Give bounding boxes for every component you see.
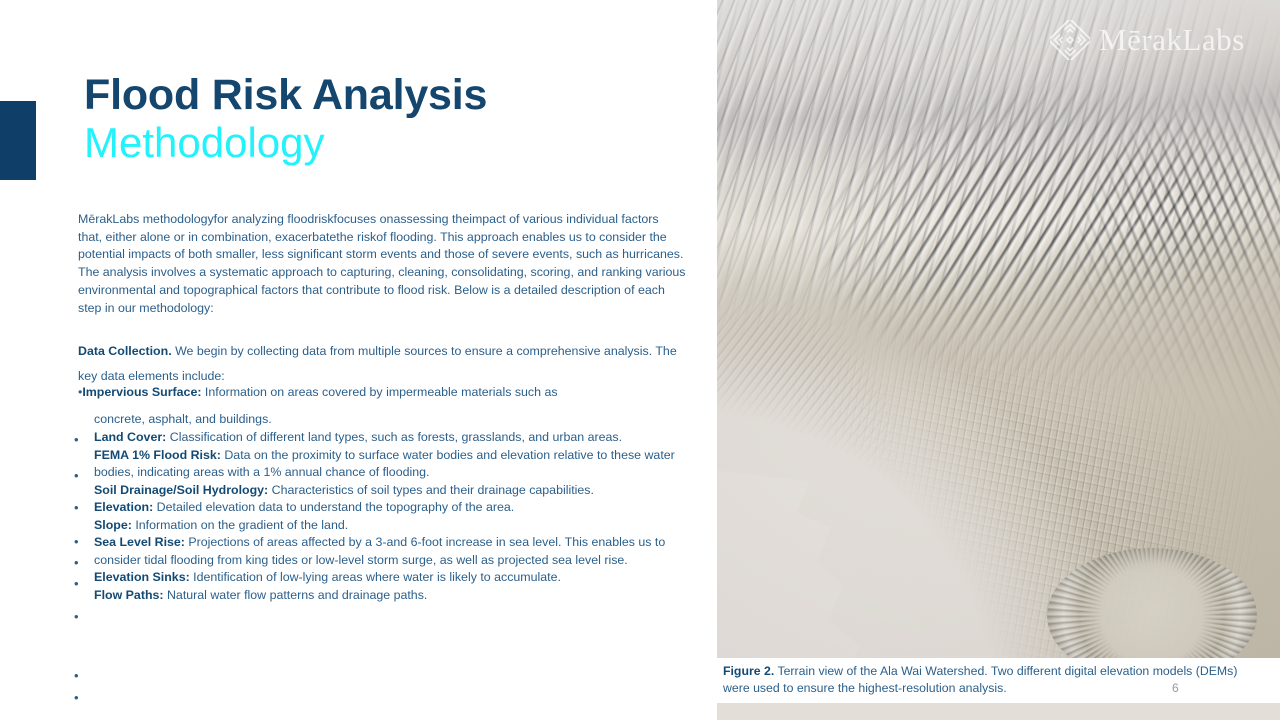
- list-item-term: Impervious Surface:: [82, 385, 201, 399]
- list-item-term: Soil Drainage/Soil Hydrology:: [94, 483, 268, 497]
- list-item-term: Elevation Sinks:: [94, 570, 190, 584]
- caption-band: Figure 2. Terrain view of the Ala Wai Wa…: [717, 658, 1280, 703]
- title-main: Flood Risk Analysis: [84, 72, 684, 118]
- list-item: FEMA 1% Flood Risk: Data on the proximit…: [94, 447, 684, 482]
- list-item: Land Cover: Classification of different …: [94, 429, 684, 447]
- list-item-text: Identification of low-lying areas where …: [190, 570, 561, 584]
- bullet-marker-icon: •: [74, 433, 79, 446]
- list-item-term: Elevation:: [94, 500, 153, 514]
- list-item-impervious-surface: •Impervious Surface: Information on area…: [78, 384, 698, 402]
- bullet-marker-icon: •: [74, 501, 79, 514]
- terrain-hillshade-image: MērakLabs: [717, 0, 1280, 658]
- bullet-marker-icon: •: [74, 691, 79, 704]
- list-item-text: Natural water flow patterns and drainage…: [164, 588, 428, 602]
- accent-block: [0, 101, 36, 180]
- list-item: Slope: Information on the gradient of th…: [94, 517, 684, 535]
- title-subtitle: Methodology: [84, 119, 684, 166]
- list-item-text: Detailed elevation data to understand th…: [153, 500, 514, 514]
- list-item-term: Land Cover:: [94, 430, 166, 444]
- bullet-marker-icon: •: [74, 469, 79, 482]
- list-item: Flow Paths: Natural water flow patterns …: [94, 587, 684, 605]
- figure-caption-text: Terrain view of the Ala Wai Watershed. T…: [723, 664, 1237, 695]
- list-item: Elevation Sinks: Identification of low-l…: [94, 569, 684, 587]
- list-item-term: Flow Paths:: [94, 588, 164, 602]
- list-item-text: Information on the gradient of the land.: [132, 518, 348, 532]
- bullet-marker-icon: •: [74, 535, 79, 548]
- page-title: Flood Risk Analysis Methodology: [84, 72, 684, 166]
- bottom-strip: [717, 703, 1280, 720]
- list-item: Elevation: Detailed elevation data to un…: [94, 499, 684, 517]
- slide-content-pane: Flood Risk Analysis Methodology MērakLab…: [0, 0, 717, 720]
- list-item-continuation: concrete, asphalt, and buildings.: [94, 412, 272, 426]
- list-item-term: Slope:: [94, 518, 132, 532]
- list-item-text: Information on areas covered by impermea…: [201, 385, 557, 399]
- list-item-text: Classification of different land types, …: [166, 430, 622, 444]
- list-item: Soil Drainage/Soil Hydrology: Characteri…: [94, 482, 684, 500]
- data-collection-paragraph: Data Collection. We begin by collecting …: [78, 339, 688, 390]
- page-number: 6: [1172, 681, 1179, 695]
- list-item: Sea Level Rise: Projections of areas aff…: [94, 534, 684, 569]
- bullet-marker-icon: •: [74, 669, 79, 682]
- figure-caption-label: Figure 2.: [723, 664, 774, 678]
- data-collection-label: Data Collection.: [78, 344, 172, 358]
- intro-paragraph: MērakLabs methodologyfor analyzing flood…: [78, 211, 686, 317]
- figure-panel: MērakLabs Figure 2. Terrain view of the …: [717, 0, 1280, 720]
- list-item-text: Characteristics of soil types and their …: [268, 483, 594, 497]
- bullet-marker-icon: •: [74, 556, 79, 569]
- list-item-term: Sea Level Rise:: [94, 535, 185, 549]
- terrain-atmospheric-haze: [717, 0, 1280, 658]
- bullet-marker-icon: •: [74, 577, 79, 590]
- data-elements-list: Land Cover: Classification of different …: [94, 429, 684, 604]
- list-item-term: FEMA 1% Flood Risk:: [94, 448, 221, 462]
- bullet-marker-icon: •: [74, 610, 79, 623]
